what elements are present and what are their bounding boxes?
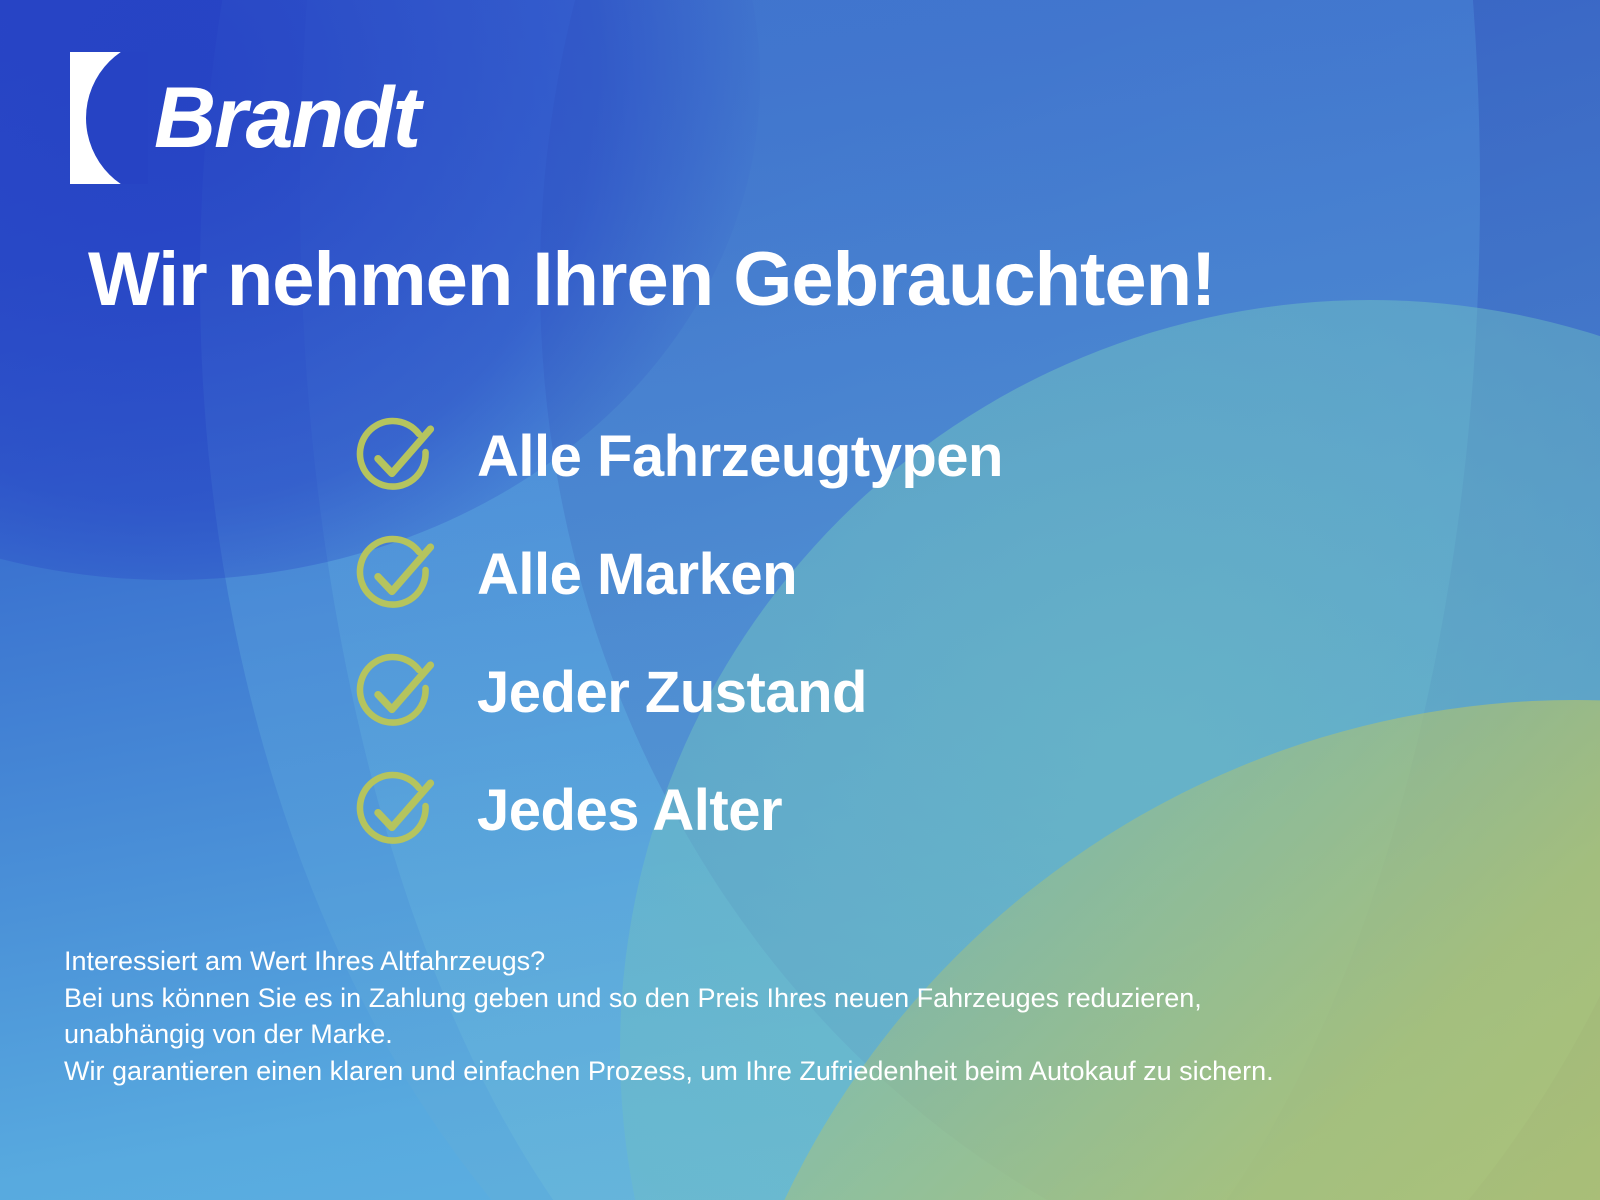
page-title: Wir nehmen Ihren Gebrauchten! [88,240,1508,320]
footnote-line-3: unabhängig von der Marke. [64,1016,1274,1053]
list-item-label: Alle Marken [477,546,797,604]
list-item-label: Jeder Zustand [477,664,867,722]
bracket-arc-icon [70,52,148,184]
list-item-label: Alle Fahrzeugtypen [477,428,1003,486]
list-item: Jedes Alter [355,752,1003,870]
footnote-text: Interessiert am Wert Ihres Altfahrzeugs?… [64,943,1274,1090]
promo-banner: Brandt Wir nehmen Ihren Gebrauchten! All… [0,0,1600,1200]
brand-name: Brandt [154,75,419,161]
list-item: Alle Fahrzeugtypen [355,398,1003,516]
check-circle-icon [355,534,437,616]
footnote-line-1: Interessiert am Wert Ihres Altfahrzeugs? [64,943,1274,980]
brand-logo: Brandt [70,52,419,184]
check-circle-icon [355,652,437,734]
footnote-line-2: Bei uns können Sie es in Zahlung geben u… [64,980,1274,1017]
banner-content: Brandt Wir nehmen Ihren Gebrauchten! All… [0,0,1600,1200]
feature-list: Alle Fahrzeugtypen Alle Marken Jeder Zus… [355,398,1003,870]
footnote-line-4: Wir garantieren einen klaren und einfach… [64,1053,1274,1090]
list-item: Jeder Zustand [355,634,1003,752]
list-item: Alle Marken [355,516,1003,634]
list-item-label: Jedes Alter [477,782,782,840]
check-circle-icon [355,770,437,852]
check-circle-icon [355,416,437,498]
